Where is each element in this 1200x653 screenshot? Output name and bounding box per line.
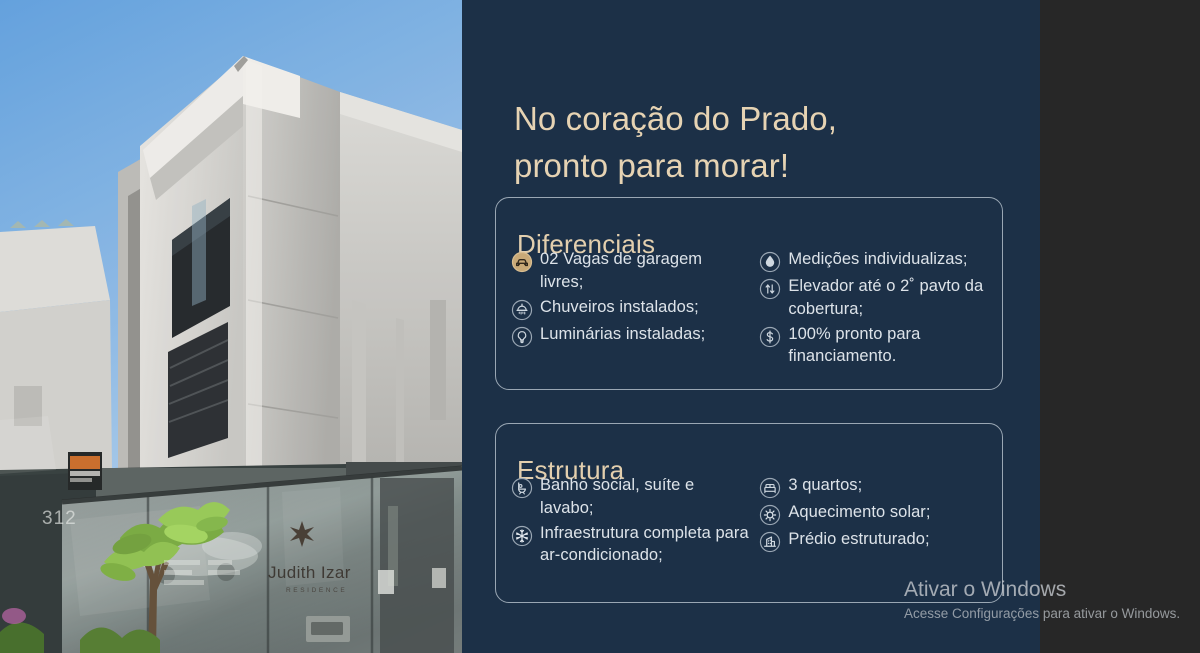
list-item: 02 Vagas de garagem livres; [511,248,749,294]
list-item-label: Luminárias instaladas; [540,323,705,346]
card-estrutura: Estrutura [495,423,1003,603]
slide-content: No coração do Prado, pronto para morar! … [462,0,1040,653]
list-item-label: Infraestrutura completa para ar-condicio… [540,522,749,568]
list-item: 100% pronto para financiamento. [759,323,992,369]
list-item-label: Chuveiros instalados; [540,296,699,319]
list-item-label: Prédio estruturado; [788,528,929,551]
list-item: Chuveiros instalados; [511,296,749,321]
estrutura-left-column: Banho social, suíte e lavabo; [511,474,749,569]
list-item-label: Aquecimento solar; [788,501,930,524]
list-item: Infraestrutura completa para ar-condicio… [511,522,749,568]
card-diferenciais-columns: 02 Vagas de garagem livres; [511,248,992,370]
diferenciais-left-column: 02 Vagas de garagem livres; [511,248,749,370]
list-item: Aquecimento solar; [759,501,992,526]
diferenciais-right-column: Medições individualizas; Elevador até [759,248,992,370]
screen: 312 [0,0,1200,653]
list-item-label: 02 Vagas de garagem livres; [540,248,749,294]
list-item-label: Medições individualizas; [788,248,967,271]
snowflake-icon [511,525,533,547]
car-icon [511,251,533,273]
estrutura-right-column: 3 quartos; [759,474,992,569]
list-item-label: 100% pronto para financiamento. [788,323,992,369]
list-item: Banho social, suíte e lavabo; [511,474,749,520]
page-title: No coração do Prado, pronto para morar! [514,96,1014,190]
list-item: Medições individualizas; [759,248,992,273]
dollar-sign-icon [759,326,781,348]
card-diferenciais: Diferenciais [495,197,1003,390]
building-icon [759,531,781,553]
list-item-label: 3 quartos; [788,474,862,497]
elevator-icon [759,278,781,300]
sun-icon [759,504,781,526]
list-item-label: Banho social, suíte e lavabo; [540,474,749,520]
water-drop-icon [759,251,781,273]
list-item: Prédio estruturado; [759,528,992,553]
shower-icon [511,299,533,321]
list-item-label: Elevador até o 2˚ pavto da cobertura; [788,275,992,321]
lightbulb-icon [511,326,533,348]
card-estrutura-columns: Banho social, suíte e lavabo; [511,474,992,569]
list-item: Luminárias instaladas; [511,323,749,348]
bed-icon [759,477,781,499]
list-item: 3 quartos; [759,474,992,499]
building-photo: 312 [0,0,462,653]
list-item: Elevador até o 2˚ pavto da cobertura; [759,275,992,321]
bathroom-icon [511,477,533,499]
presentation-slide: 312 [0,0,1040,653]
